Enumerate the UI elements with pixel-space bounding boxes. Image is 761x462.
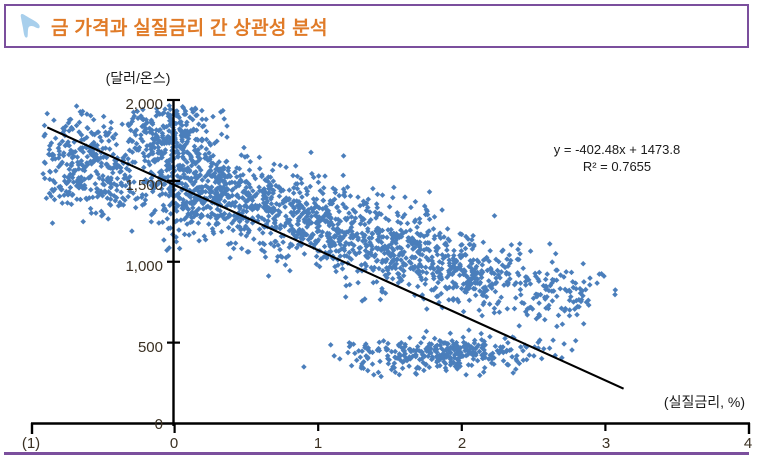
y-axis-title: (달러/온스) bbox=[106, 70, 171, 86]
regression-r-squared: R² = 0.7655 bbox=[583, 159, 651, 174]
x-tick-label-2: 2 bbox=[458, 435, 466, 452]
y-tick-label-1500: 1,500 bbox=[125, 177, 163, 194]
bottom-divider bbox=[4, 452, 749, 455]
chart-title-bar: 금 가격과 실질금리 간 상관성 분석 bbox=[4, 4, 749, 48]
flag-bird-icon bbox=[15, 11, 45, 41]
x-tick-label-1: 1 bbox=[314, 435, 322, 452]
regression-equation: y = -402.48x + 1473.8 bbox=[554, 142, 680, 157]
y-tick-label-500: 500 bbox=[138, 339, 163, 356]
y-tick-label-1000: 1,000 bbox=[125, 258, 163, 275]
scatter-points bbox=[41, 103, 618, 379]
y-tick-label-0: 0 bbox=[155, 416, 163, 433]
x-tick-label-neg1: (1) bbox=[22, 435, 40, 452]
page-title: 금 가격과 실질금리 간 상관성 분석 bbox=[51, 13, 328, 40]
chart-container: 2,000 1,500 1,000 500 0 (1) 0 1 2 3 4 (달… bbox=[0, 52, 761, 452]
x-tick-label-0: 0 bbox=[170, 435, 178, 452]
scatter-plot: 2,000 1,500 1,000 500 0 (1) 0 1 2 3 4 (달… bbox=[0, 52, 761, 452]
y-tick-label-2000: 2,000 bbox=[125, 96, 163, 113]
x-axis-title: (실질금리, %) bbox=[664, 394, 745, 410]
x-tick-label-4: 4 bbox=[744, 435, 752, 452]
x-tick-label-3: 3 bbox=[602, 435, 610, 452]
